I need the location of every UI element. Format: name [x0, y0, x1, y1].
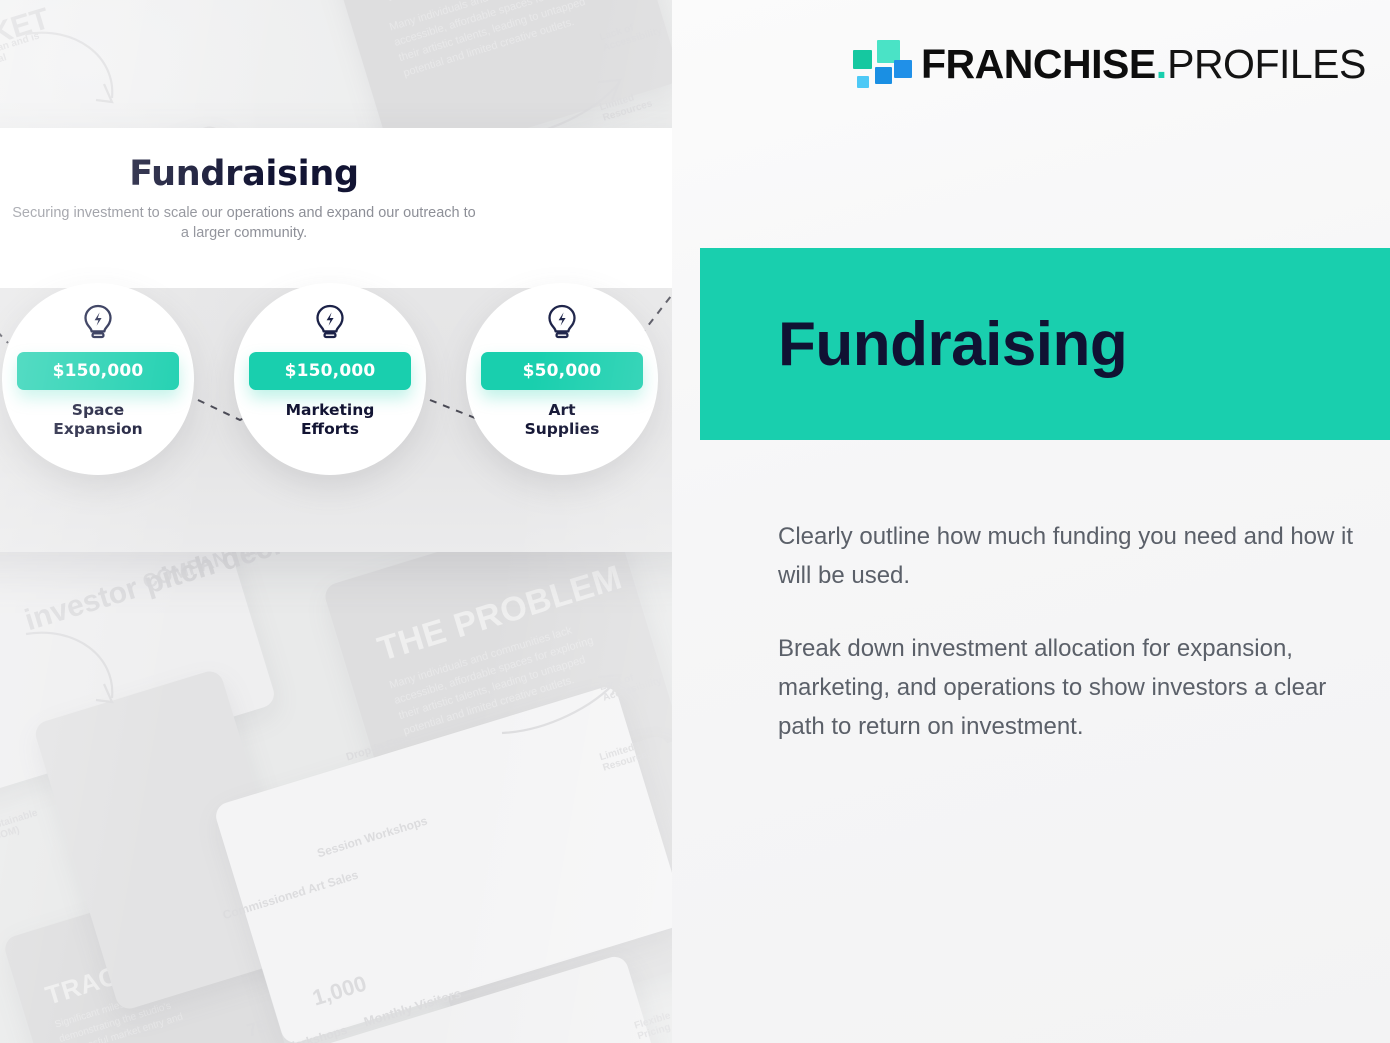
- funding-label: Art Supplies: [525, 401, 600, 440]
- logo-dot: .: [1156, 41, 1167, 87]
- page-title: Fundraising: [778, 309, 1127, 380]
- deck-arrow-icon-4: [498, 655, 628, 745]
- logo-light-text: PROFILES: [1167, 41, 1366, 87]
- funding-label: Space Expansion: [53, 401, 142, 440]
- deck-arrow-icon: [20, 20, 130, 130]
- funding-amount: $150,000: [249, 352, 411, 390]
- fundraising-info-card: Fundraising Securing investment to scale…: [0, 128, 672, 552]
- lightbulb-bolt-icon: [314, 304, 346, 342]
- square-teal-dark: [853, 50, 872, 69]
- body-paragraph-1: Clearly outline how much funding you nee…: [778, 518, 1358, 596]
- funding-node[interactable]: $150,000 Space Expansion: [2, 283, 194, 475]
- funding-label-line2: Supplies: [525, 420, 600, 439]
- funding-label-line1: Space: [53, 401, 142, 420]
- funding-label-line2: Efforts: [286, 420, 375, 439]
- funding-amount: $50,000: [481, 352, 643, 390]
- body-paragraph-2: Break down investment allocation for exp…: [778, 630, 1358, 747]
- lightbulb-bolt-icon: [82, 304, 114, 342]
- brand-logo: FRANCHISE.PROFILES: [849, 36, 1366, 92]
- funding-node[interactable]: $150,000 Marketing Efforts: [234, 283, 426, 475]
- square-blue-2: [894, 60, 912, 78]
- body-copy: Clearly outline how much funding you nee…: [778, 518, 1358, 746]
- content-panel: FRANCHISE.PROFILES Fundraising Clearly o…: [672, 0, 1390, 1043]
- square-cyan: [857, 76, 869, 88]
- deck-arrow-icon-2: [20, 620, 130, 730]
- logo-wordmark: FRANCHISE.PROFILES: [921, 44, 1366, 85]
- funding-label-line2: Expansion: [53, 420, 142, 439]
- logo-bold-text: FRANCHISE: [921, 41, 1156, 87]
- square-blue: [875, 67, 892, 84]
- funding-node[interactable]: $50,000 Art Supplies: [466, 283, 658, 475]
- deck-label-obtainable-som: Obtainable (SOM): [0, 802, 60, 844]
- pitch-deck-background-panel: THE PROBLEM Many individuals and communi…: [0, 0, 672, 1043]
- funding-nodes: $150,000 Space Expansion $150,000 Market…: [0, 128, 672, 552]
- section-title-banner: Fundraising: [700, 248, 1390, 440]
- funding-amount: $150,000: [17, 352, 179, 390]
- franchise-profiles-logo-mark: [849, 36, 905, 92]
- lightbulb-bolt-icon: [546, 304, 578, 342]
- funding-label-line1: Marketing: [286, 401, 375, 420]
- funding-label-line1: Art: [525, 401, 600, 420]
- funding-label: Marketing Efforts: [286, 401, 375, 440]
